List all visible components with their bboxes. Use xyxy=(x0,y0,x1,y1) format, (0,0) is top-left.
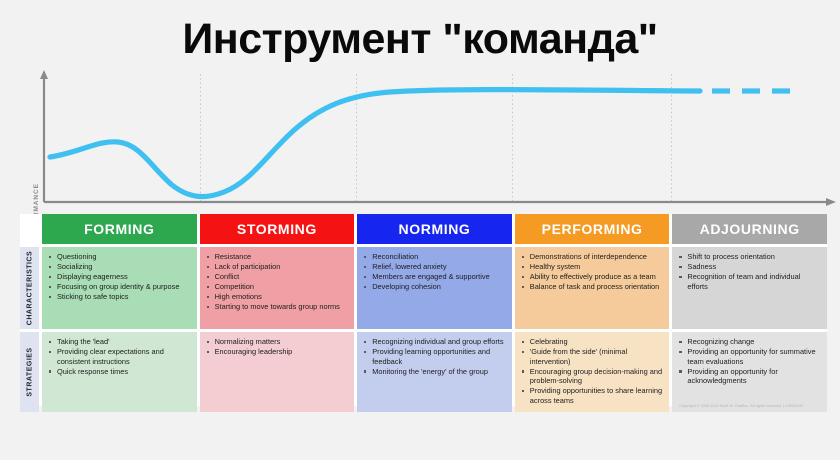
row-label-characteristics: CHARACTERISTICS xyxy=(20,247,39,329)
bullet-item: Recognizing change xyxy=(679,337,821,347)
table-corner-spacer xyxy=(20,214,39,244)
bullet-item: Providing learning opportunities and fee… xyxy=(364,347,506,366)
table-cell-norming-strategies: Recognizing individual and group efforts… xyxy=(357,332,512,412)
bullet-item: Developing cohesion xyxy=(364,282,506,292)
performance-curve-line xyxy=(50,90,700,197)
bullet-item: Starting to move towards group norms xyxy=(207,302,349,312)
bullet-item: 'Guide from the side' (minimal intervent… xyxy=(522,347,664,366)
chart-axes xyxy=(44,76,828,202)
bullet-item: Conflict xyxy=(207,272,349,282)
table-cell-norming-characteristics: ReconciliationRelief, lowered anxietyMem… xyxy=(357,247,512,329)
table-header-label: STORMING xyxy=(237,221,317,237)
page-title: Инструмент "команда" xyxy=(0,18,840,61)
bullet-item: Competition xyxy=(207,282,349,292)
bullet-item: Balance of task and process orientation xyxy=(522,282,664,292)
bullet-item: Encouraging leadership xyxy=(207,347,349,357)
table-cell-storming-strategies: Normalizing mattersEncouraging leadershi… xyxy=(200,332,355,412)
bullet-item: Monitoring the 'energy' of the group xyxy=(364,367,506,377)
table-cell-adjourning-strategies: Recognizing changeProviding an opportuni… xyxy=(672,332,827,412)
bullet-item: Sadness xyxy=(679,262,821,272)
bullet-item: Ability to effectively produce as a team xyxy=(522,272,664,282)
bullet-item: Celebrating xyxy=(522,337,664,347)
chart-svg xyxy=(0,68,840,213)
bullet-item: Shift to process orientation xyxy=(679,252,821,262)
bullet-item: Providing an opportunity for acknowledgm… xyxy=(679,367,821,386)
bullet-item: Healthy system xyxy=(522,262,664,272)
bullet-item: Demonstrations of interdependence xyxy=(522,252,664,262)
row-label-strategies: STRATEGIES xyxy=(20,332,39,412)
table-header-label: NORMING xyxy=(399,221,471,237)
row-label-text: STRATEGIES xyxy=(26,347,33,396)
row-label-text: CHARACTERISTICS xyxy=(26,251,33,325)
bullet-item: Recognizing individual and group efforts xyxy=(364,337,506,347)
bullet-item: Encouraging group decision-making and pr… xyxy=(522,367,664,386)
table-header-performing[interactable]: PERFORMING xyxy=(515,214,670,244)
bullet-item: Resistance xyxy=(207,252,349,262)
bullet-list: Normalizing mattersEncouraging leadershi… xyxy=(207,337,349,357)
bullet-list: ReconciliationRelief, lowered anxietyMem… xyxy=(364,252,506,292)
bullet-list: QuestioningSocializingDisplaying eagerne… xyxy=(49,252,191,302)
bullet-list: Recognizing changeProviding an opportuni… xyxy=(679,337,821,386)
performance-curve-chart: PERFORMANCE PHASE xyxy=(0,68,840,213)
table-header-label: PERFORMING xyxy=(542,221,643,237)
bullet-item: Focusing on group identity & purpose xyxy=(49,282,191,292)
table-header-norming[interactable]: NORMING xyxy=(357,214,512,244)
table-cell-forming-characteristics: QuestioningSocializingDisplaying eagerne… xyxy=(42,247,197,329)
table-header-label: ADJOURNING xyxy=(700,221,800,237)
table-header-forming[interactable]: FORMING xyxy=(42,214,197,244)
bullet-item: Questioning xyxy=(49,252,191,262)
table-header-adjourning[interactable]: ADJOURNING xyxy=(672,214,827,244)
table-cell-storming-characteristics: ResistanceLack of participationConflictC… xyxy=(200,247,355,329)
bullet-item: High emotions xyxy=(207,292,349,302)
bullet-list: ResistanceLack of participationConflictC… xyxy=(207,252,349,312)
bullet-item: Members are engaged & supportive xyxy=(364,272,506,282)
bullet-item: Providing opportunities to share learnin… xyxy=(522,386,664,405)
tuckman-stages-table: FORMINGSTORMINGNORMINGPERFORMINGADJOURNI… xyxy=(20,214,827,406)
bullet-item: Taking the 'lead' xyxy=(49,337,191,347)
bullet-list: Taking the 'lead'Providing clear expecta… xyxy=(49,337,191,376)
chart-gridlines xyxy=(201,74,672,202)
bullet-item: Displaying eagerness xyxy=(49,272,191,282)
x-axis-arrow xyxy=(826,198,836,206)
bullet-item: Providing clear expectations and consist… xyxy=(49,347,191,366)
bullet-item: Reconciliation xyxy=(364,252,506,262)
bullet-item: Providing an opportunity for summative t… xyxy=(679,347,821,366)
slide-canvas: Инструмент "команда" xyxy=(0,0,840,460)
table-cell-performing-strategies: Celebrating'Guide from the side' (minima… xyxy=(515,332,670,412)
table-cell-adjourning-characteristics: Shift to process orientationSadnessRecog… xyxy=(672,247,827,329)
bullet-list: Demonstrations of interdependenceHealthy… xyxy=(522,252,664,292)
bullet-item: Sticking to safe topics xyxy=(49,292,191,302)
bullet-item: Normalizing matters xyxy=(207,337,349,347)
table-header-storming[interactable]: STORMING xyxy=(200,214,355,244)
bullet-item: Recognition of team and individual effor… xyxy=(679,272,821,291)
copyright-notice: Copyright © 2008-2019 Scott M. Graffius.… xyxy=(679,404,822,408)
y-axis-arrow xyxy=(40,70,48,79)
bullet-item: Socializing xyxy=(49,262,191,272)
bullet-item: Lack of participation xyxy=(207,262,349,272)
bullet-list: Shift to process orientationSadnessRecog… xyxy=(679,252,821,291)
table-cell-performing-characteristics: Demonstrations of interdependenceHealthy… xyxy=(515,247,670,329)
bullet-item: Relief, lowered anxiety xyxy=(364,262,506,272)
table-grid: FORMINGSTORMINGNORMINGPERFORMINGADJOURNI… xyxy=(20,214,827,406)
table-header-label: FORMING xyxy=(84,221,154,237)
table-cell-forming-strategies: Taking the 'lead'Providing clear expecta… xyxy=(42,332,197,412)
bullet-list: Celebrating'Guide from the side' (minima… xyxy=(522,337,664,406)
bullet-item: Quick response times xyxy=(49,367,191,377)
bullet-list: Recognizing individual and group efforts… xyxy=(364,337,506,376)
